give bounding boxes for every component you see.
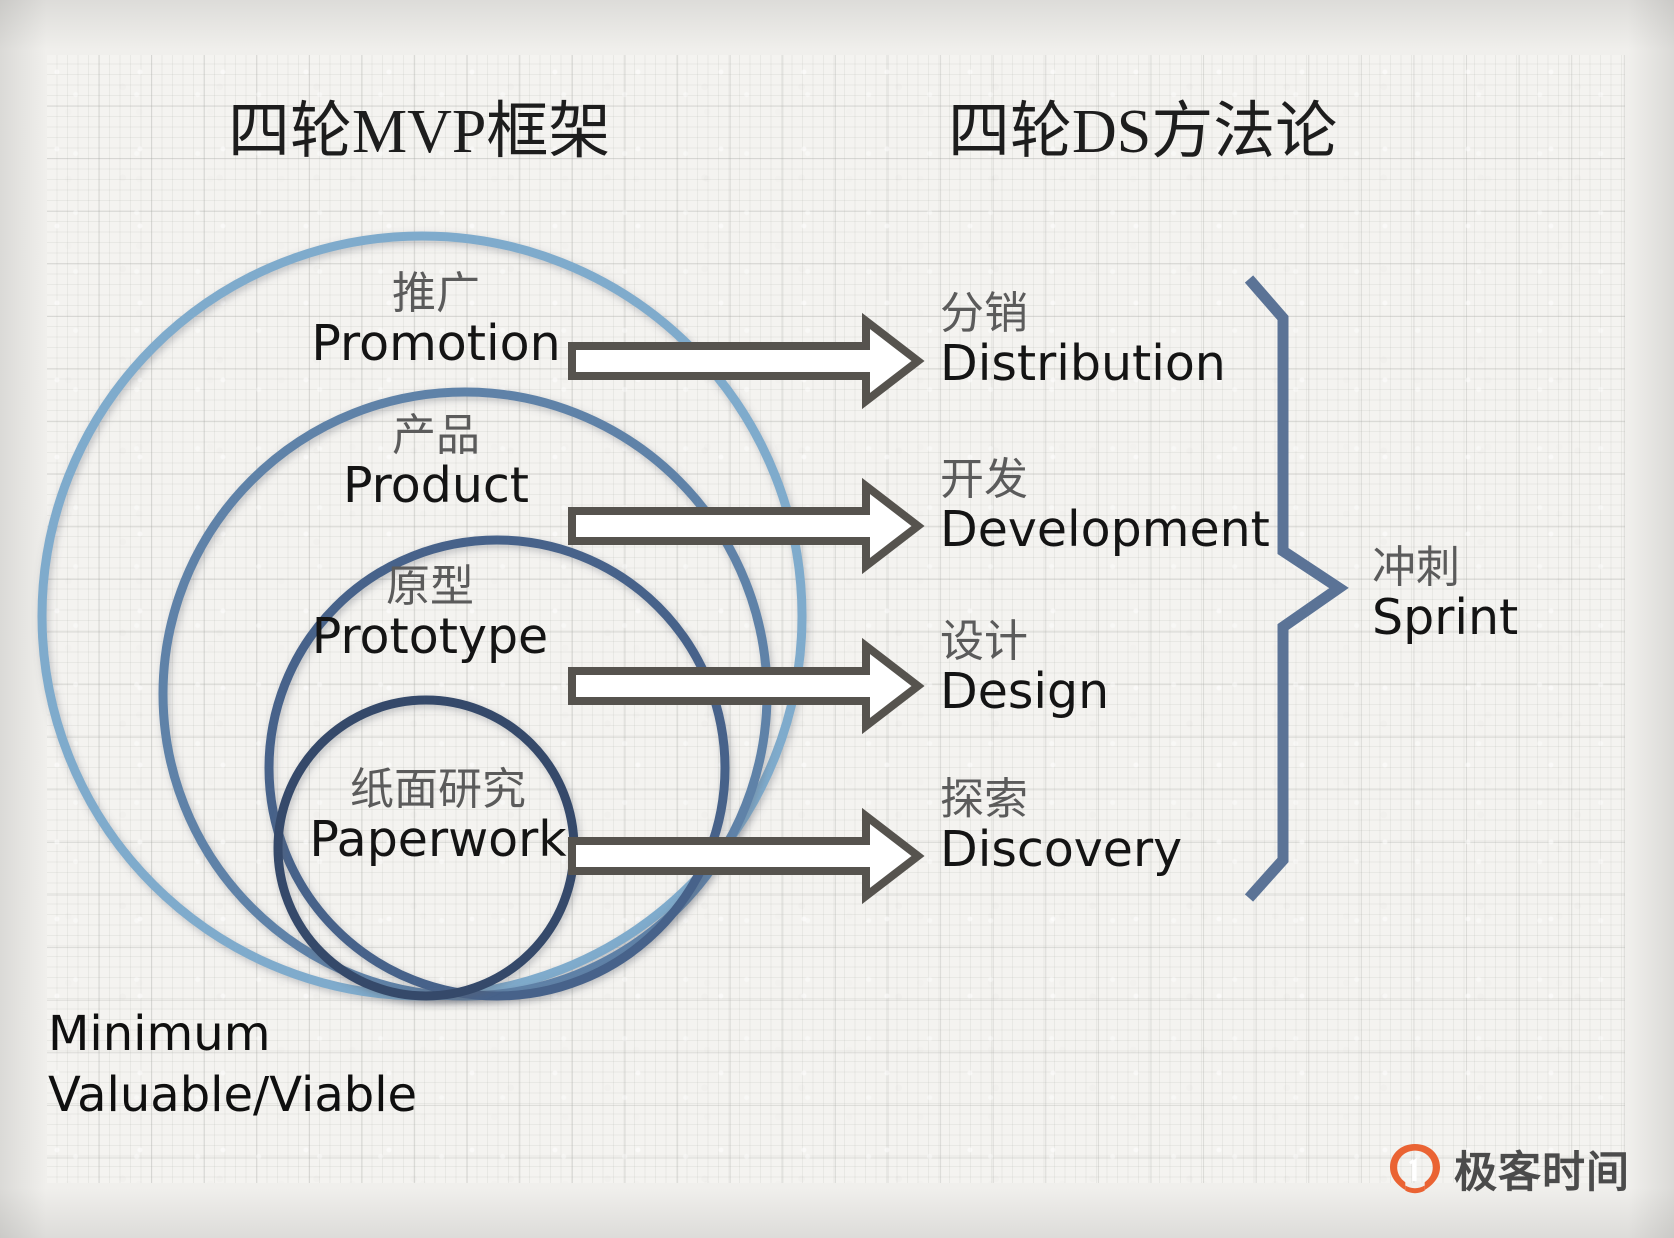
stage-label-development: 开发 Development <box>940 458 1270 554</box>
stage-label-design-cn: 设计 <box>940 620 1109 664</box>
stage-label-development-cn: 开发 <box>940 458 1270 502</box>
ring-label-paperwork: 纸面研究 Paperwork <box>309 768 566 864</box>
logo-wordmark: 极客时间 <box>1454 1138 1630 1200</box>
stage-label-distribution: 分销 Distribution <box>940 292 1226 388</box>
caption-line-1: Minimum <box>48 1004 417 1065</box>
ring-label-product-cn: 产品 <box>343 414 529 458</box>
stage-label-distribution-cn: 分销 <box>940 292 1226 336</box>
ring-label-product: 产品 Product <box>343 414 529 510</box>
slide-canvas: 四轮MVP框架 四轮DS方法论 推广 Promotion <box>0 0 1674 1238</box>
stage-label-discovery-en: Discovery <box>940 825 1182 874</box>
stage-label-distribution-en: Distribution <box>940 339 1226 388</box>
stage-label-discovery: 探索 Discovery <box>940 778 1182 874</box>
ring-label-paperwork-cn: 纸面研究 <box>309 768 566 812</box>
stage-label-development-en: Development <box>940 505 1270 554</box>
stage-label-discovery-cn: 探索 <box>940 778 1182 822</box>
stage-label-design: 设计 Design <box>940 620 1109 716</box>
ring-label-promotion-cn: 推广 <box>311 272 560 316</box>
geektime-logo-icon <box>1387 1141 1443 1197</box>
brand-logo: 极客时间 <box>1387 1138 1630 1200</box>
caption-line-2: Valuable/Viable <box>48 1065 417 1126</box>
ring-label-prototype-cn: 原型 <box>312 565 548 609</box>
sprint-label: 冲刺 Sprint <box>1372 546 1518 642</box>
sprint-label-cn: 冲刺 <box>1372 546 1518 590</box>
ring-label-prototype-en: Prototype <box>312 612 548 661</box>
stage-label-design-en: Design <box>940 667 1109 716</box>
mvp-acronym-caption: Minimum Valuable/Viable <box>48 1004 417 1127</box>
ring-label-product-en: Product <box>343 461 529 510</box>
ring-label-prototype: 原型 Prototype <box>312 565 548 661</box>
sprint-label-en: Sprint <box>1372 593 1518 642</box>
ring-label-promotion-en: Promotion <box>311 319 560 368</box>
page-title-right: 四轮DS方法论 <box>948 80 1337 170</box>
page-title-left: 四轮MVP框架 <box>228 80 610 170</box>
ring-label-promotion: 推广 Promotion <box>311 272 560 368</box>
ring-label-paperwork-en: Paperwork <box>309 815 566 864</box>
